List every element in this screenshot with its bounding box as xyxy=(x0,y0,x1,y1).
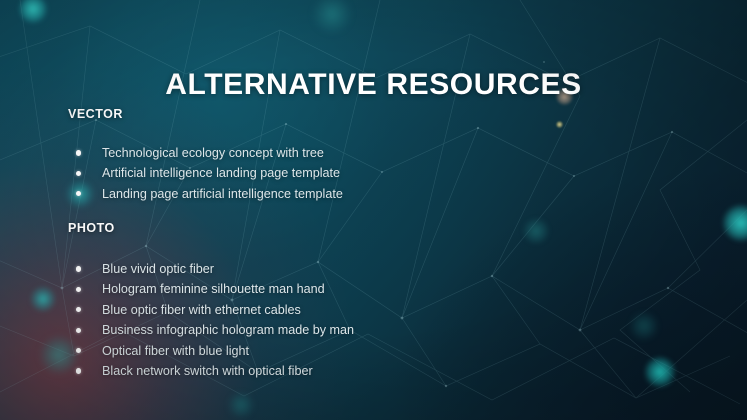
list-item[interactable]: Blue vivid optic fiber xyxy=(68,259,354,279)
section-heading-photo: PHOTO xyxy=(68,221,354,235)
section-heading-vector: VECTOR xyxy=(68,107,343,121)
bullet-dot-icon xyxy=(76,191,81,196)
list-item[interactable]: Landing page artificial intelligence tem… xyxy=(68,184,343,204)
list-item-label: Blue optic fiber with ethernet cables xyxy=(102,303,301,317)
bullet-dot-icon xyxy=(76,307,81,312)
list-item-label: Optical fiber with blue light xyxy=(102,344,249,358)
bullet-dot-icon xyxy=(76,368,81,373)
list-item-label: Artificial intelligence landing page tem… xyxy=(102,166,340,180)
section-photo: PHOTO Blue vivid optic fiber Hologram fe… xyxy=(68,221,354,381)
list-item-label: Black network switch with optical fiber xyxy=(102,364,313,378)
bullet-dot-icon xyxy=(76,328,81,333)
list-item[interactable]: Business infographic hologram made by ma… xyxy=(68,320,354,340)
bokeh-dot-teal-right-edge xyxy=(722,204,747,242)
section-vector: VECTOR Technological ecology concept wit… xyxy=(68,107,343,204)
vector-resource-list: Technological ecology concept with tree … xyxy=(68,143,343,204)
bokeh-dot-teal-topleft xyxy=(18,0,48,24)
bokeh-dot-teal-bottom-center xyxy=(228,392,254,418)
list-item[interactable]: Technological ecology concept with tree xyxy=(68,143,343,163)
bullet-dot-icon xyxy=(76,150,81,155)
page-title: ALTERNATIVE RESOURCES xyxy=(0,68,747,102)
bokeh-dot-teal-left-upper xyxy=(30,286,56,312)
list-item-label: Technological ecology concept with tree xyxy=(102,146,324,160)
bokeh-dot-teal-bottom-right-dim xyxy=(630,312,658,340)
bullet-dot-icon xyxy=(76,266,81,271)
bullet-dot-icon xyxy=(76,348,81,353)
bullet-dot-icon xyxy=(76,287,81,292)
bokeh-dot-teal-bottom-right xyxy=(644,356,676,388)
list-item[interactable]: Hologram feminine silhouette man hand xyxy=(68,279,354,299)
list-item-label: Business infographic hologram made by ma… xyxy=(102,323,354,337)
list-item[interactable]: Artificial intelligence landing page tem… xyxy=(68,163,343,183)
bokeh-dot-teal-top-center xyxy=(312,0,352,34)
bullet-dot-icon xyxy=(76,171,81,176)
list-item-label: Landing page artificial intelligence tem… xyxy=(102,187,343,201)
photo-resource-list: Blue vivid optic fiber Hologram feminine… xyxy=(68,259,354,381)
list-item-label: Hologram feminine silhouette man hand xyxy=(102,282,325,296)
list-item[interactable]: Optical fiber with blue light xyxy=(68,341,354,361)
list-item[interactable]: Black network switch with optical fiber xyxy=(68,361,354,381)
list-item[interactable]: Blue optic fiber with ethernet cables xyxy=(68,300,354,320)
list-item-label: Blue vivid optic fiber xyxy=(102,262,214,276)
bokeh-dot-teal-mid-dim xyxy=(523,218,549,244)
bokeh-dot-yellow-small xyxy=(556,121,563,128)
slide-canvas: ALTERNATIVE RESOURCES VECTOR Technologic… xyxy=(0,0,747,420)
